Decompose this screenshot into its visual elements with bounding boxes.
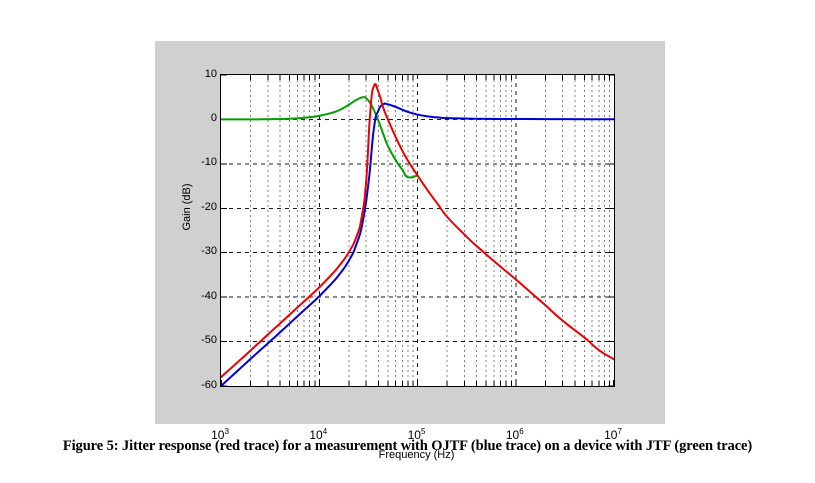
y-tick-label: 10 — [205, 69, 217, 80]
y-axis-title: Gain (dB) — [181, 157, 193, 257]
y-tick-label: 0 — [211, 113, 217, 124]
y-tick-label: -30 — [201, 246, 217, 257]
y-tick-label: -50 — [201, 335, 217, 346]
chart-canvas — [221, 75, 614, 386]
y-tick-label: -10 — [201, 157, 217, 168]
matlab-figure-panel: 100-10-20-30-40-50-60 103104105106107 Fr… — [155, 41, 665, 424]
figure-container: 100-10-20-30-40-50-60 103104105106107 Fr… — [0, 0, 815, 483]
y-tick-label: -60 — [201, 380, 217, 391]
y-tick-label: -20 — [201, 202, 217, 213]
minor-gridlines-x — [251, 75, 610, 386]
plot-axes-area — [220, 74, 615, 387]
y-tick-label: -40 — [201, 291, 217, 302]
figure-caption: Figure 5: Jitter response (red trace) fo… — [40, 437, 775, 456]
